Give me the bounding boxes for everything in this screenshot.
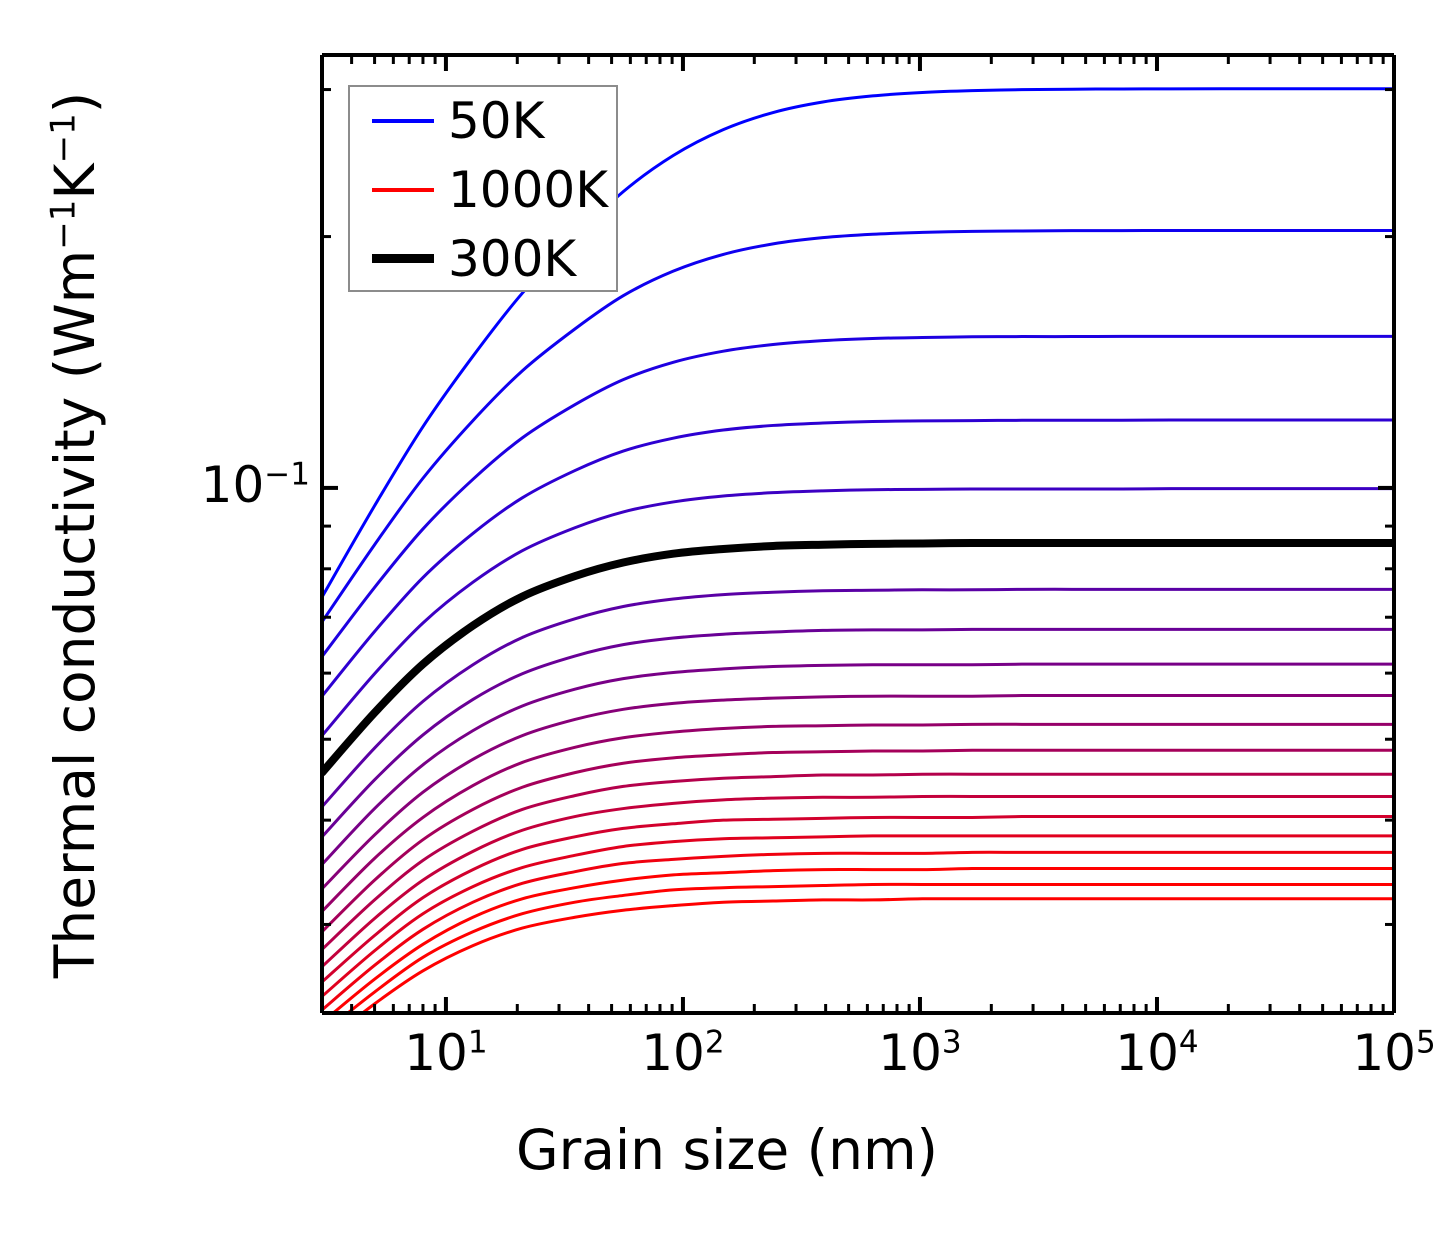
legend-entry-300K[interactable]: 300K xyxy=(350,225,620,294)
series-line-800K xyxy=(322,836,1394,997)
legend-swatch-300K xyxy=(372,254,434,263)
x-tick-label: 101 xyxy=(366,1025,526,1081)
legend-swatch-50K xyxy=(372,119,434,123)
y-axis-label-wrapper: Thermal conductivity (Wm−1K−1) xyxy=(40,5,110,1065)
x-tick-label: 103 xyxy=(840,1025,1000,1081)
series-line-150K xyxy=(322,336,1394,656)
series-line-650K xyxy=(322,774,1394,949)
series-line-600K xyxy=(322,750,1394,932)
legend-label-50K: 50K xyxy=(448,87,544,156)
legend[interactable]: 50K1000K300K xyxy=(348,85,618,292)
legend-swatch-1000K xyxy=(372,188,434,192)
legend-entry-50K[interactable]: 50K xyxy=(350,87,620,156)
legend-label-300K: 300K xyxy=(448,225,576,294)
legend-label-1000K: 1000K xyxy=(448,156,608,225)
x-tick-label: 102 xyxy=(603,1025,763,1081)
y-axis-label: Thermal conductivity (Wm−1K−1) xyxy=(40,5,110,1065)
x-tick-label: 105 xyxy=(1314,1025,1454,1081)
series-line-900K xyxy=(322,868,1394,1022)
series-line-850K xyxy=(322,852,1394,1010)
figure-canvas: 101102103104105 10−1 Grain size (nm) The… xyxy=(0,0,1454,1254)
series-line-200K xyxy=(322,420,1394,696)
x-tick-label: 104 xyxy=(1077,1025,1237,1081)
x-axis-label: Grain size (nm) xyxy=(0,1118,1454,1182)
legend-entry-1000K[interactable]: 1000K xyxy=(350,156,620,225)
y-tick-label: 10−1 xyxy=(110,457,310,513)
